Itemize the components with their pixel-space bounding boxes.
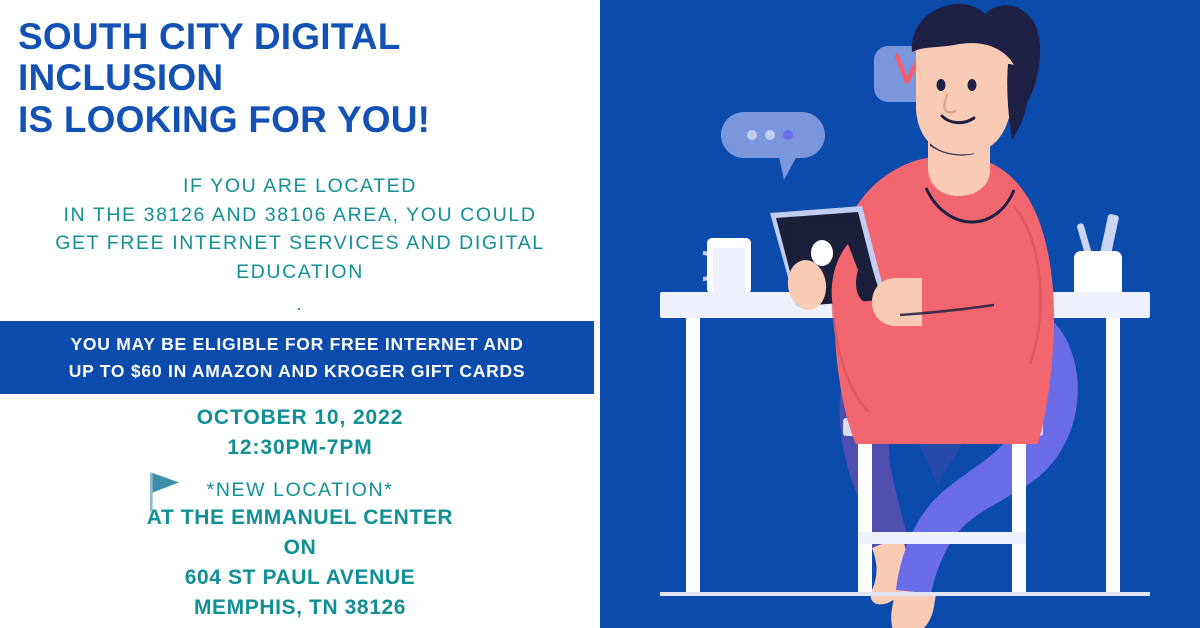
right-eye: [968, 79, 977, 91]
headline-line-1: SOUTH CITY DIGITAL: [18, 16, 583, 57]
offer-banner: YOU MAY BE ELIGIBLE FOR FREE INTERNET AN…: [0, 321, 594, 394]
event-date: OCTOBER 10, 2022: [10, 403, 590, 433]
person-with-laptop-illustration: [600, 0, 1200, 628]
subhead-line-3: GET FREE INTERNET SERVICES AND DIGITAL: [10, 229, 590, 258]
location-line-2: ON: [10, 533, 590, 563]
flyer-poster: SOUTH CITY DIGITAL INCLUSION IS LOOKING …: [0, 0, 1200, 628]
location-line-1: AT THE EMMANUEL CENTER: [10, 503, 590, 533]
subhead-line-2: IN THE 38126 AND 38106 AREA, YOU COULD: [10, 201, 590, 230]
coffee-mug: [703, 238, 751, 294]
screen-logo: [811, 240, 833, 266]
left-content-panel: SOUTH CITY DIGITAL INCLUSION IS LOOKING …: [0, 0, 600, 628]
banner-line-2: UP TO $60 IN AMAZON AND KROGER GIFT CARD…: [69, 358, 526, 385]
new-location-row: *NEW LOCATION*: [10, 478, 590, 503]
headline-line-3: IS LOOKING FOR YOU!: [18, 99, 583, 140]
new-location-label: *NEW LOCATION*: [207, 479, 394, 501]
subhead-trailing-dot: .: [10, 291, 590, 319]
illustration-panel: [600, 0, 1200, 628]
banner-line-1: YOU MAY BE ELIGIBLE FOR FREE INTERNET AN…: [70, 331, 523, 358]
flag-pennant-icon: [148, 472, 182, 512]
location-line-3: 604 ST PAUL AVENUE: [10, 563, 590, 593]
subhead-line-1: IF YOU ARE LOCATED: [10, 172, 590, 201]
location-line-4: MEMPHIS, TN 38126: [10, 593, 590, 623]
eligibility-description: IF YOU ARE LOCATED IN THE 38126 AND 3810…: [10, 172, 590, 319]
event-location: *NEW LOCATION* AT THE EMMANUEL CENTER ON…: [10, 478, 590, 623]
event-datetime: OCTOBER 10, 2022 12:30PM-7PM: [10, 403, 590, 464]
right-hand: [872, 278, 922, 326]
page-title: SOUTH CITY DIGITAL INCLUSION IS LOOKING …: [18, 16, 583, 140]
subhead-line-4: EDUCATION: [10, 258, 590, 287]
event-time: 12:30PM-7PM: [10, 433, 590, 463]
left-eye: [937, 79, 946, 91]
headline-line-2: INCLUSION: [18, 57, 583, 98]
